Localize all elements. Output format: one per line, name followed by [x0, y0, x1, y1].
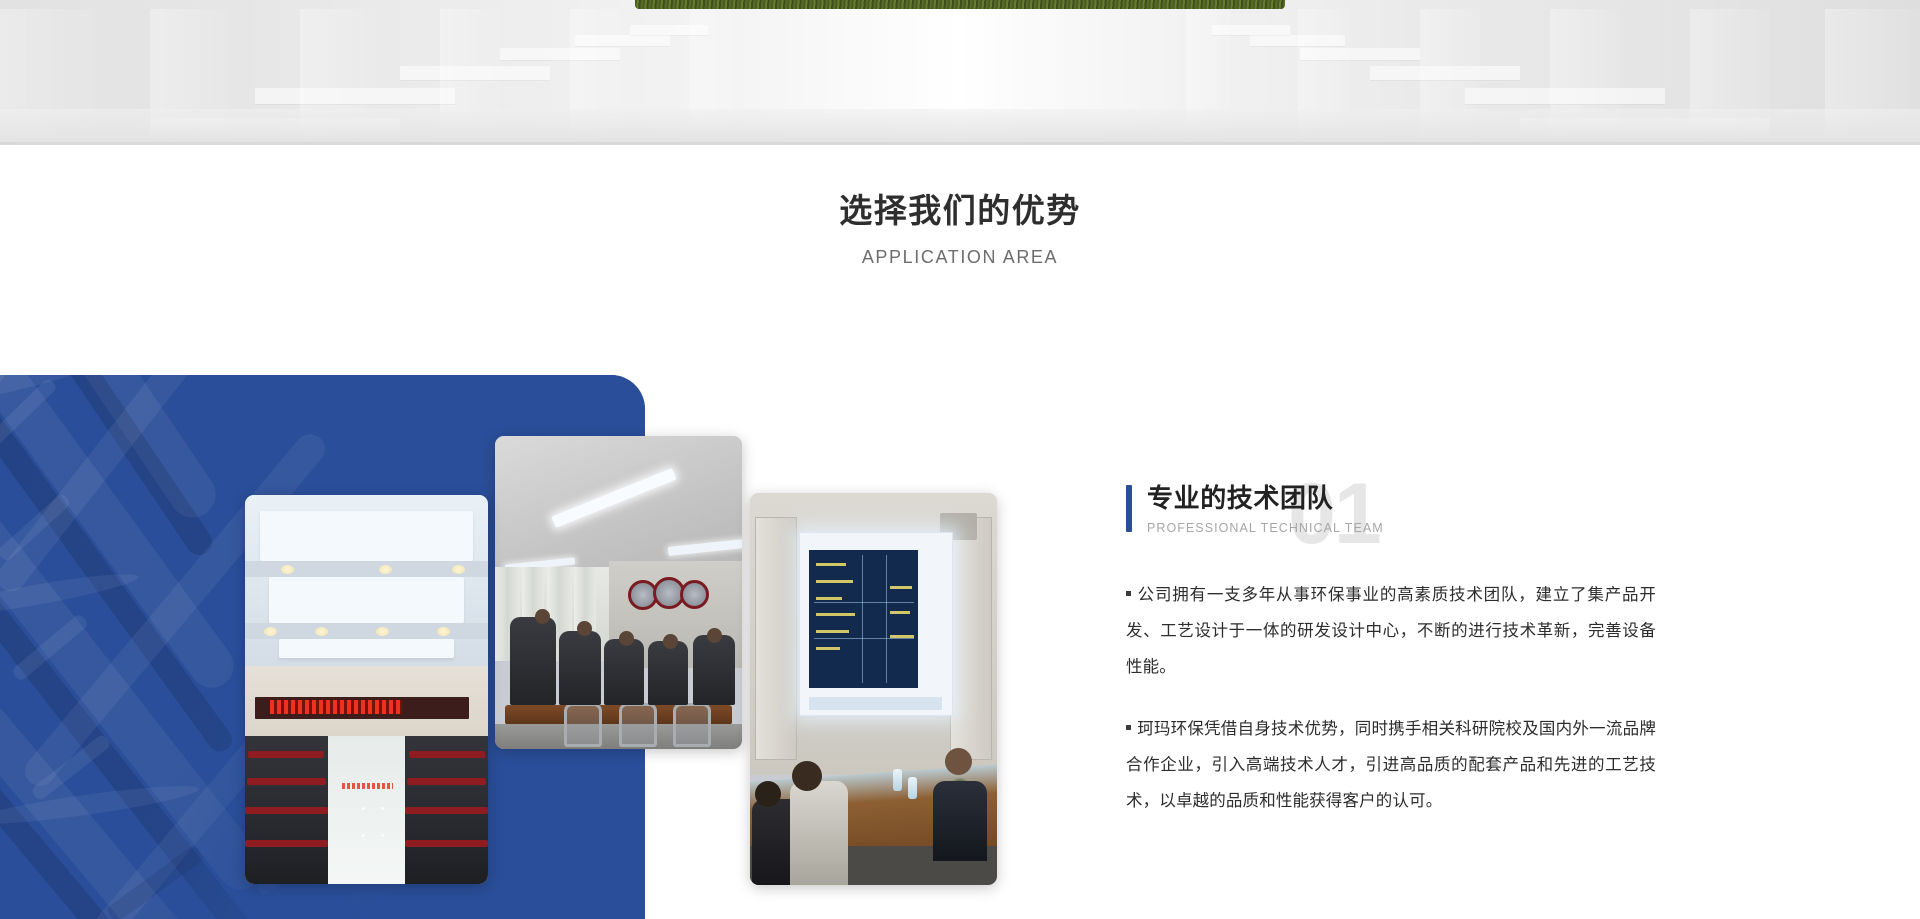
gallery-photo-3[interactable]	[750, 493, 997, 885]
page-root: 选择我们的优势 APPLICATION AREA	[0, 0, 1920, 919]
feature-paragraph-2-text: 珂玛环保凭借自身技术优势，同时携手相关科研院校及国内外一流品牌合作企业，引入高端…	[1126, 720, 1656, 810]
gallery-photo-2[interactable]	[495, 436, 742, 749]
feature-content: 01 专业的技术团队 PROFESSIONAL TECHNICAL TEAM 公…	[1126, 483, 1686, 819]
feature-paragraph-1-text: 公司拥有一支多年从事环保事业的高素质技术团队，建立了集产品开发、工艺设计于一体的…	[1126, 586, 1656, 676]
bullet-icon	[1126, 725, 1131, 730]
gallery-photo-1[interactable]	[245, 495, 488, 884]
hero-floor	[0, 109, 1920, 145]
feature-paragraph-2: 珂玛环保凭借自身技术优势，同时携手相关科研院校及国内外一流品牌合作企业，引入高端…	[1126, 711, 1656, 819]
feature-heading-row: 01 专业的技术团队 PROFESSIONAL TECHNICAL TEAM	[1126, 483, 1686, 555]
page-subtitle: APPLICATION AREA	[0, 247, 1920, 268]
led-banner	[255, 697, 469, 719]
section-heading: 选择我们的优势 APPLICATION AREA	[0, 190, 1920, 268]
hero-banner	[0, 0, 1920, 145]
feature-title-en: PROFESSIONAL TECHNICAL TEAM	[1147, 521, 1686, 535]
page-title: 选择我们的优势	[0, 190, 1920, 231]
projection-screen	[799, 532, 952, 716]
bullet-icon	[1126, 591, 1131, 596]
hero-divider	[0, 142, 1920, 145]
feature-paragraph-1: 公司拥有一支多年从事环保事业的高素质技术团队，建立了集产品开发、工艺设计于一体的…	[1126, 577, 1656, 685]
feature-title-cn: 专业的技术团队	[1147, 483, 1686, 514]
grass-strip-icon	[635, 0, 1285, 9]
